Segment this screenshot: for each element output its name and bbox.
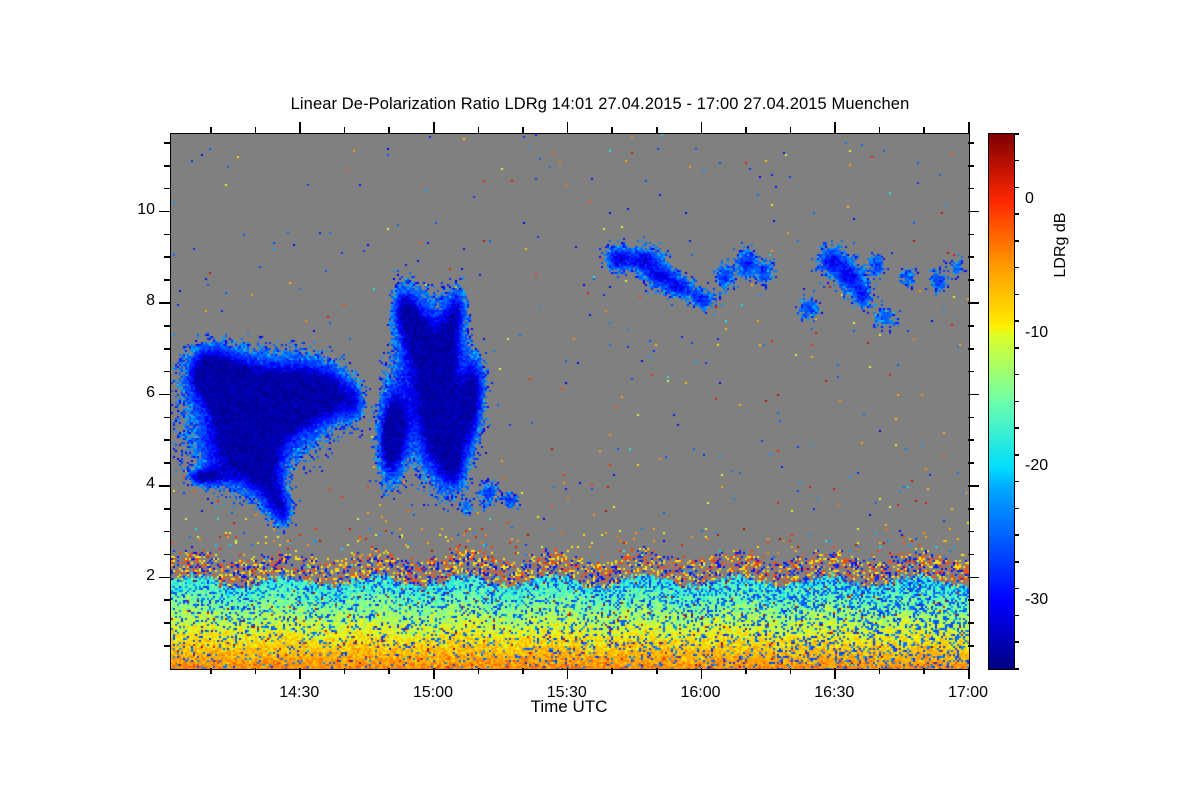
x-axis-tick-top xyxy=(210,127,212,133)
y-axis-tick xyxy=(164,348,170,350)
y-axis-tick xyxy=(164,531,170,533)
colorbar-tick xyxy=(1015,641,1019,643)
x-axis-tick xyxy=(299,668,301,679)
y-axis-tick-label: 10 xyxy=(100,201,155,219)
colorbar-tick xyxy=(1015,347,1019,349)
y-axis-tick-right xyxy=(968,256,974,258)
y-axis-tick-right xyxy=(968,645,974,647)
heatmap-pixels xyxy=(171,134,969,669)
y-axis-tick xyxy=(164,279,170,281)
x-axis-tick xyxy=(834,668,836,679)
figure-canvas: Linear De-Polarization Ratio LDRg 14:01 … xyxy=(0,0,1200,800)
colorbar-tick xyxy=(1015,615,1019,617)
y-axis-tick-right xyxy=(968,554,974,556)
y-axis-tick-right xyxy=(968,577,979,579)
y-axis-tick-right xyxy=(968,531,974,533)
y-axis-tick-right xyxy=(968,508,974,510)
y-axis-tick-right xyxy=(968,394,979,396)
colorbar-tick xyxy=(1015,454,1019,456)
y-axis-tick-right xyxy=(968,622,974,624)
x-axis-tick xyxy=(255,668,257,674)
x-axis-label: Time UTC xyxy=(170,697,968,717)
x-axis-tick-top xyxy=(478,127,480,133)
y-axis-tick-right xyxy=(968,371,974,373)
y-axis-tick-right xyxy=(968,142,974,144)
x-axis-tick-top xyxy=(968,122,970,133)
y-axis-tick-label: 2 xyxy=(100,567,155,585)
figure-title: Linear De-Polarization Ratio LDRg 14:01 … xyxy=(0,95,1200,114)
y-axis-tick-right xyxy=(968,417,974,419)
colorbar-tick xyxy=(1015,294,1019,296)
y-axis-tick xyxy=(164,165,170,167)
colorbar-tick xyxy=(1015,561,1019,563)
colorbar-tick xyxy=(1015,588,1019,590)
y-axis-tick xyxy=(164,142,170,144)
y-axis-tick-right xyxy=(968,234,974,236)
y-axis-tick xyxy=(164,234,170,236)
colorbar-tick-label: -20 xyxy=(1025,457,1048,475)
x-axis-tick xyxy=(790,668,792,674)
colorbar-tick xyxy=(1015,133,1019,135)
x-axis-tick xyxy=(478,668,480,674)
colorbar-tick-label: 0 xyxy=(1025,190,1034,208)
y-axis-tick xyxy=(159,485,170,487)
x-axis-tick xyxy=(656,668,658,674)
colorbar-tick-label: -30 xyxy=(1025,591,1048,609)
y-axis-tick xyxy=(164,417,170,419)
y-axis-tick-label: 6 xyxy=(100,384,155,402)
x-axis-tick-top xyxy=(923,127,925,133)
x-axis-tick xyxy=(968,668,970,679)
colorbar-tick xyxy=(1015,187,1019,189)
colorbar-tick xyxy=(1015,427,1019,429)
y-axis-tick xyxy=(164,599,170,601)
colorbar-tick xyxy=(1015,401,1019,403)
x-axis-tick-top xyxy=(344,127,346,133)
y-axis-tick xyxy=(164,508,170,510)
colorbar-tick xyxy=(1015,267,1019,269)
y-axis-tick-label: 8 xyxy=(100,292,155,310)
x-axis-tick-top xyxy=(656,127,658,133)
y-axis-tick-right xyxy=(968,439,974,441)
x-axis-tick xyxy=(567,668,569,679)
y-axis-tick xyxy=(164,462,170,464)
colorbar-tick xyxy=(1015,160,1019,162)
x-axis-tick-top xyxy=(611,127,613,133)
x-axis-tick-top xyxy=(745,127,747,133)
x-axis-tick-top xyxy=(701,122,703,133)
colorbar-tick xyxy=(1015,374,1019,376)
y-axis-tick xyxy=(164,256,170,258)
y-axis-tick xyxy=(164,325,170,327)
y-axis-tick xyxy=(159,211,170,213)
y-axis-tick xyxy=(159,302,170,304)
colorbar-tick xyxy=(1015,213,1019,215)
y-axis-tick xyxy=(164,622,170,624)
colorbar-tick xyxy=(1015,240,1019,242)
y-axis-tick xyxy=(164,645,170,647)
y-axis-tick-right xyxy=(968,325,974,327)
x-axis-tick-top xyxy=(567,122,569,133)
x-axis-tick xyxy=(879,668,881,674)
colorbar xyxy=(988,133,1015,670)
x-axis-tick xyxy=(344,668,346,674)
y-axis-tick-label: 4 xyxy=(100,475,155,493)
x-axis-tick xyxy=(701,668,703,679)
y-axis-tick-right xyxy=(968,188,974,190)
colorbar-tick-label: -10 xyxy=(1025,324,1048,342)
x-axis-tick xyxy=(433,668,435,679)
x-axis-tick-top xyxy=(522,127,524,133)
colorbar-label: LDRg dB xyxy=(1052,135,1070,355)
colorbar-tick xyxy=(1015,320,1019,322)
y-axis-tick xyxy=(164,371,170,373)
x-axis-tick-top xyxy=(388,127,390,133)
x-axis-tick xyxy=(388,668,390,674)
x-axis-tick xyxy=(745,668,747,674)
x-axis-tick xyxy=(923,668,925,674)
heatmap-plot-area xyxy=(170,133,970,670)
x-axis-tick-top xyxy=(255,127,257,133)
colorbar-tick xyxy=(1015,534,1019,536)
x-axis-tick-top xyxy=(433,122,435,133)
y-axis-tick-right xyxy=(968,302,979,304)
colorbar-tick xyxy=(1015,668,1019,670)
colorbar-tick xyxy=(1015,481,1019,483)
y-axis-tick xyxy=(164,439,170,441)
y-axis-tick-right xyxy=(968,211,979,213)
y-axis-tick-right xyxy=(968,279,974,281)
y-axis-tick xyxy=(164,554,170,556)
y-axis-tick-right xyxy=(968,462,974,464)
y-axis-tick-right xyxy=(968,348,974,350)
x-axis-tick xyxy=(210,668,212,674)
y-axis-tick xyxy=(159,577,170,579)
y-axis-tick-right xyxy=(968,599,974,601)
colorbar-gradient xyxy=(989,134,1014,669)
x-axis-tick xyxy=(611,668,613,674)
x-axis-tick-top xyxy=(834,122,836,133)
x-axis-tick xyxy=(522,668,524,674)
x-axis-tick-top xyxy=(879,127,881,133)
y-axis-tick xyxy=(159,394,170,396)
colorbar-tick xyxy=(1015,508,1019,510)
y-axis-tick xyxy=(164,188,170,190)
y-axis-tick-right xyxy=(968,165,974,167)
x-axis-tick-top xyxy=(790,127,792,133)
y-axis-tick-right xyxy=(968,485,979,487)
x-axis-tick-top xyxy=(299,122,301,133)
